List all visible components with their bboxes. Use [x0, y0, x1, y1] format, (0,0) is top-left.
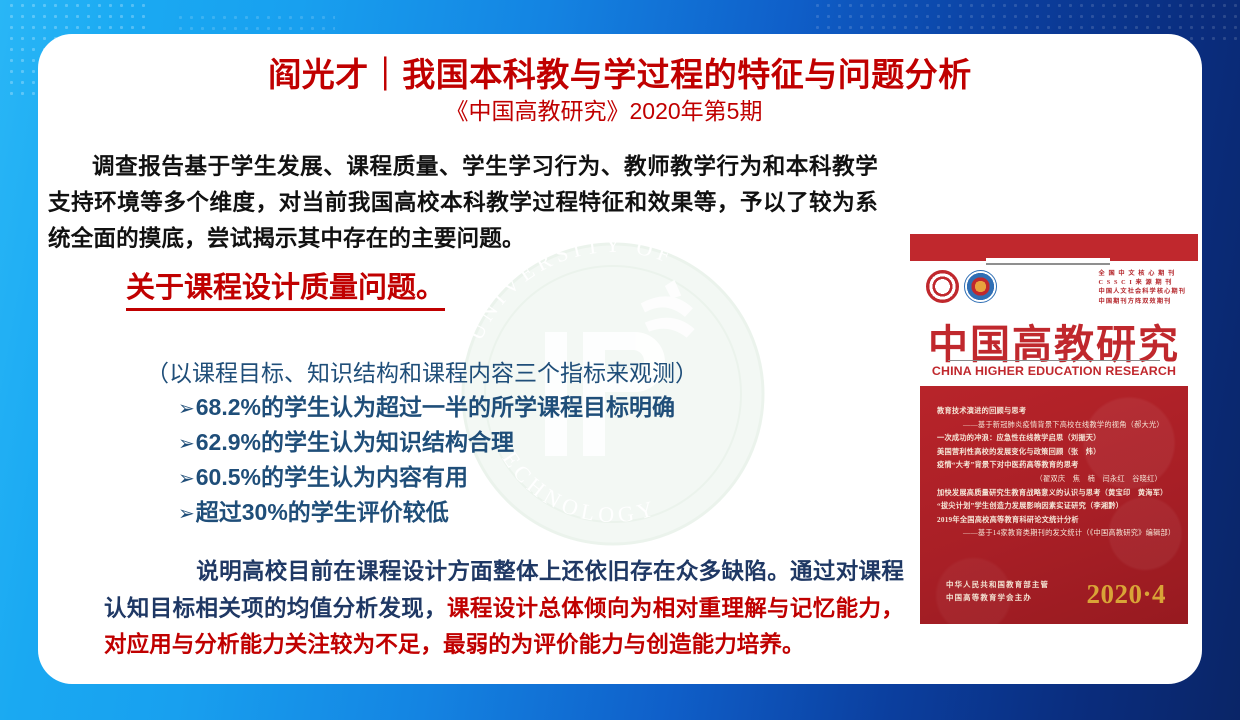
journal-top-bar	[910, 234, 1198, 261]
toc-entry: 加快发展高质量研究生教育战略意义的认识与思考（黄宝印 黄海军）	[937, 487, 1178, 501]
toc-entry: “拔尖计划”学生创造力发展影响因素实证研究（李湘黔）	[937, 500, 1178, 514]
toc-entry: 一次成功的冲浪：应急性在线教学启思（刘振天）	[937, 432, 1178, 446]
toc-entry-title: 一次成功的冲浪：应急性在线教学启思（刘振天）	[937, 434, 1101, 442]
slide-title: 阎光才｜我国本科教与学过程的特征与问题分析	[38, 48, 1202, 96]
intro-paragraph: 调查报告基于学生发展、课程质量、学生学习行为、教师教学行为和本科教学支持环境等多…	[48, 149, 878, 257]
journal-index-line: C S S C I 来 源 期 刊	[1099, 278, 1186, 287]
toc-entry: 疫情“大考”背景下对中医药高等教育的思考 （翟双庆 焦 楠 闫永红 谷晓红）	[937, 459, 1178, 486]
journal-org-line: 中华人民共和国教育部主管	[946, 578, 1049, 591]
arrow-bullet-icon: ➢	[178, 428, 195, 461]
slide-subtitle: 《中国高教研究》2020年第5期	[38, 92, 1202, 126]
toc-entry: 教育技术演进的回顾与思考 ——基于新冠肺炎疫情背景下高校在线教学的视角（郝大光）	[937, 405, 1178, 432]
arrow-bullet-icon: ➢	[178, 498, 195, 531]
journal-index-list: 全 国 中 文 核 心 期 刊 C S S C I 来 源 期 刊 中国人文社会…	[1099, 269, 1186, 306]
slide-background: UNIVERSITY OF TECHNOLOGY 阎光才｜我国本科教与学过程的特…	[0, 0, 1240, 720]
journal-title-en: CHINA HIGHER EDUCATION RESEARCH	[910, 364, 1198, 378]
list-item-label: 超过30%的学生评价较低	[196, 496, 449, 529]
toc-entry: 2019年全国高校高等教育科研论文统计分析 ——基于14家教育类期刊的发文统计（…	[937, 514, 1178, 541]
toc-entry-title: 加快发展高质量研究生教育战略意义的认识与思考（黄宝印 黄海军）	[937, 489, 1168, 497]
journal-cahe-emblem-icon	[926, 270, 959, 303]
list-item: ➢ 62.9%的学生认为知识结构合理	[178, 426, 675, 461]
journal-org-line: 中国高等教育学会主办	[946, 591, 1049, 604]
list-item: ➢ 60.5%的学生认为内容有用	[178, 461, 675, 496]
toc-entry-title: 疫情“大考”背景下对中医药高等教育的思考	[937, 461, 1079, 469]
arrow-bullet-icon: ➢	[178, 463, 195, 496]
journal-index-line: 中国期刊方阵双效期刊	[1099, 297, 1186, 306]
section-note: （以课程目标、知识结构和课程内容三个指标来观测）	[146, 354, 698, 388]
conclusion-paragraph: 说明高校目前在课程设计方面整体上还依旧存在众多缺陷。通过对课程认知目标相关项的均…	[104, 554, 904, 664]
list-item-label: 68.2%的学生认为超过一半的所学课程目标明确	[196, 391, 675, 424]
toc-entry-subtitle: ——基于14家教育类期刊的发文统计（《中国高教研究》编辑部）	[937, 527, 1178, 541]
toc-entry-title: 教育技术演进的回顾与思考	[937, 407, 1026, 415]
list-item: ➢ 超过30%的学生评价较低	[178, 496, 675, 531]
toc-entry: 美国营利性高校的发展变化与政策回顾（张 炜）	[937, 446, 1178, 460]
journal-cover-image: 全 国 中 文 核 心 期 刊 C S S C I 来 源 期 刊 中国人文社会…	[910, 234, 1198, 634]
journal-organization: 中华人民共和国教育部主管 中国高等教育学会主办	[946, 578, 1049, 604]
section-heading: 关于课程设计质量问题。	[126, 264, 445, 311]
journal-award-emblem-icon	[964, 270, 997, 303]
journal-title-cn: 中国高教研究	[910, 312, 1198, 370]
arrow-bullet-icon: ➢	[178, 393, 195, 426]
journal-contents-panel: 教育技术演进的回顾与思考 ——基于新冠肺炎疫情背景下高校在线教学的视角（郝大光）…	[920, 386, 1188, 624]
journal-index-line: 中国人文社会科学核心期刊	[1099, 287, 1186, 296]
journal-title-divider	[948, 360, 1160, 361]
toc-entry-subtitle: ——基于新冠肺炎疫情背景下高校在线教学的视角（郝大光）	[937, 419, 1178, 433]
journal-top-rule	[986, 263, 1110, 265]
toc-entry-title: “拔尖计划”学生创造力发展影响因素实证研究（李湘黔）	[937, 502, 1123, 510]
journal-issue-number: 2020·4	[1086, 579, 1166, 610]
list-item-label: 62.9%的学生认为知识结构合理	[196, 426, 514, 459]
list-item-label: 60.5%的学生认为内容有用	[196, 461, 468, 494]
journal-index-line: 全 国 中 文 核 心 期 刊	[1099, 269, 1186, 278]
bullet-list: ➢ 68.2%的学生认为超过一半的所学课程目标明确 ➢ 62.9%的学生认为知识…	[178, 391, 675, 531]
journal-table-of-contents: 教育技术演进的回顾与思考 ——基于新冠肺炎疫情背景下高校在线教学的视角（郝大光）…	[937, 405, 1178, 541]
list-item: ➢ 68.2%的学生认为超过一半的所学课程目标明确	[178, 391, 675, 426]
toc-entry-title: 2019年全国高校高等教育科研论文统计分析	[937, 516, 1079, 524]
slide-content-card: UNIVERSITY OF TECHNOLOGY 阎光才｜我国本科教与学过程的特…	[38, 34, 1202, 684]
toc-entry-authors: （翟双庆 焦 楠 闫永红 谷晓红）	[937, 473, 1178, 487]
toc-entry-title: 美国营利性高校的发展变化与政策回顾（张 炜）	[937, 448, 1101, 456]
